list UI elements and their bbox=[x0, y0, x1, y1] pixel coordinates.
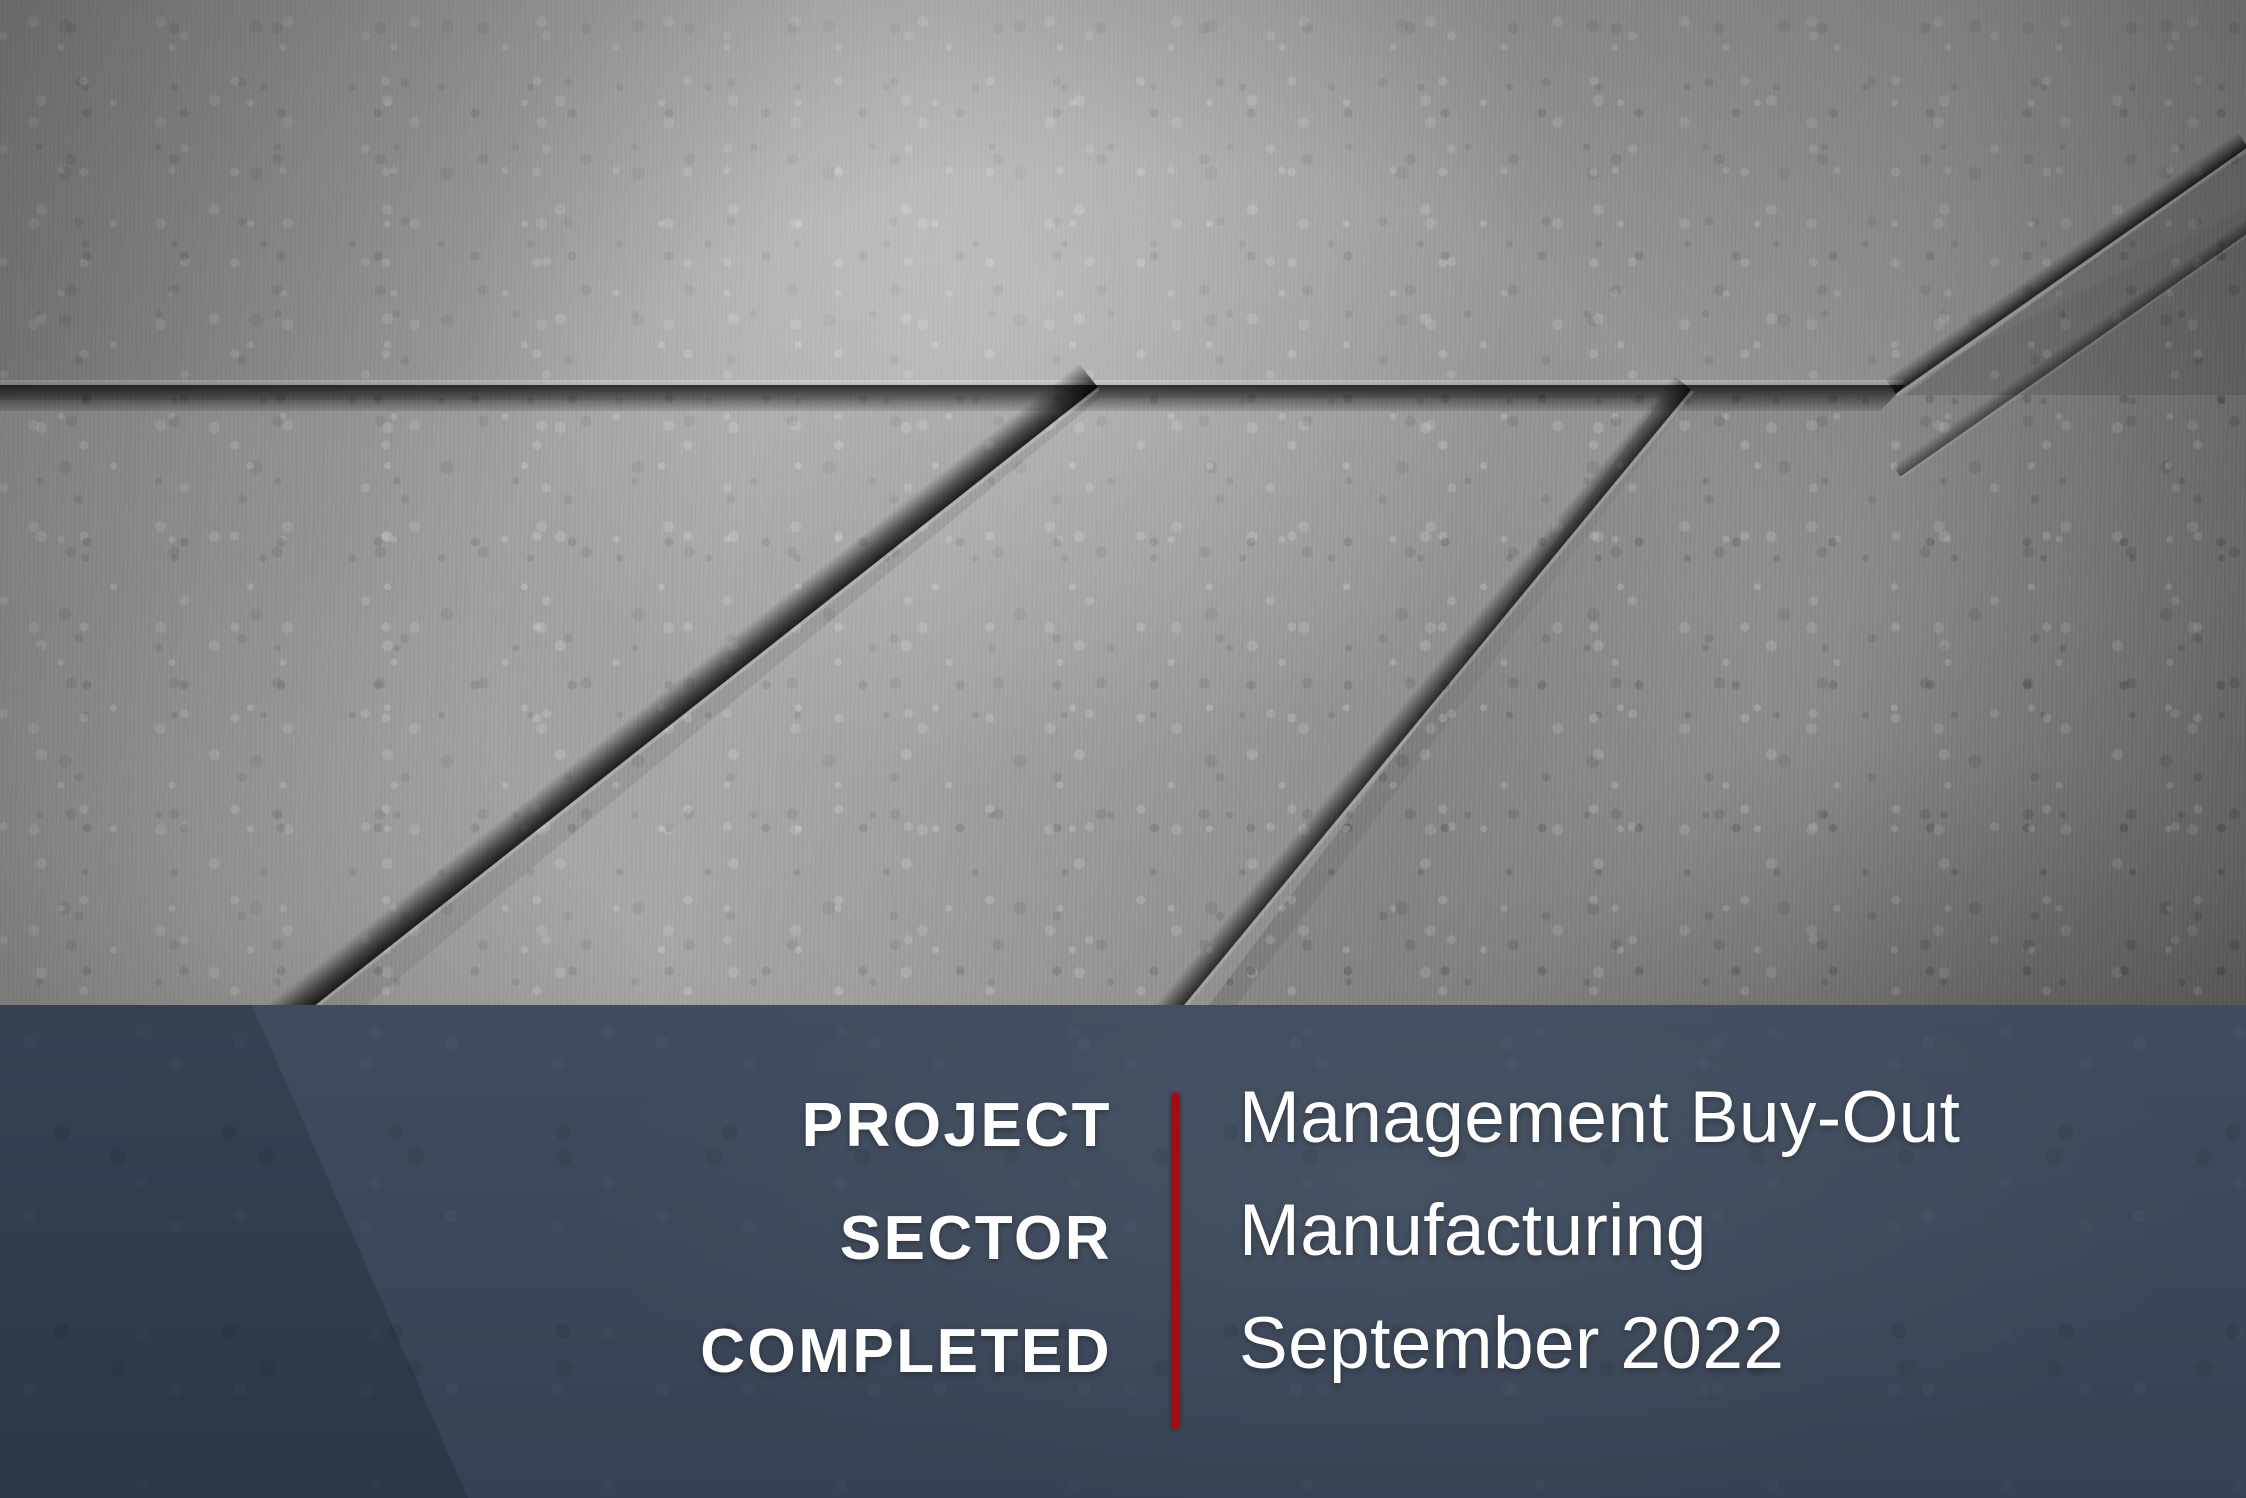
panel-edge-shadow bbox=[0, 385, 1905, 411]
info-value-project: Management Buy-Out bbox=[1239, 1061, 2199, 1174]
project-completion-banner: PROJECT SECTOR COMPLETED Management Buy-… bbox=[0, 0, 2246, 1498]
info-grid: PROJECT SECTOR COMPLETED Management Buy-… bbox=[0, 1005, 2246, 1498]
info-label-completed: COMPLETED bbox=[0, 1295, 1112, 1408]
info-value-completed: September 2022 bbox=[1239, 1287, 2199, 1400]
info-label-project: PROJECT bbox=[0, 1069, 1112, 1182]
info-label-column: PROJECT SECTOR COMPLETED bbox=[0, 1069, 1112, 1408]
info-value-sector: Manufacturing bbox=[1239, 1174, 2199, 1287]
info-label-sector: SECTOR bbox=[0, 1182, 1112, 1295]
info-value-column: Management Buy-Out Manufacturing Septemb… bbox=[1239, 1061, 2199, 1400]
vertical-divider-rule bbox=[1171, 1092, 1180, 1429]
info-band: PROJECT SECTOR COMPLETED Management Buy-… bbox=[0, 1005, 2246, 1498]
